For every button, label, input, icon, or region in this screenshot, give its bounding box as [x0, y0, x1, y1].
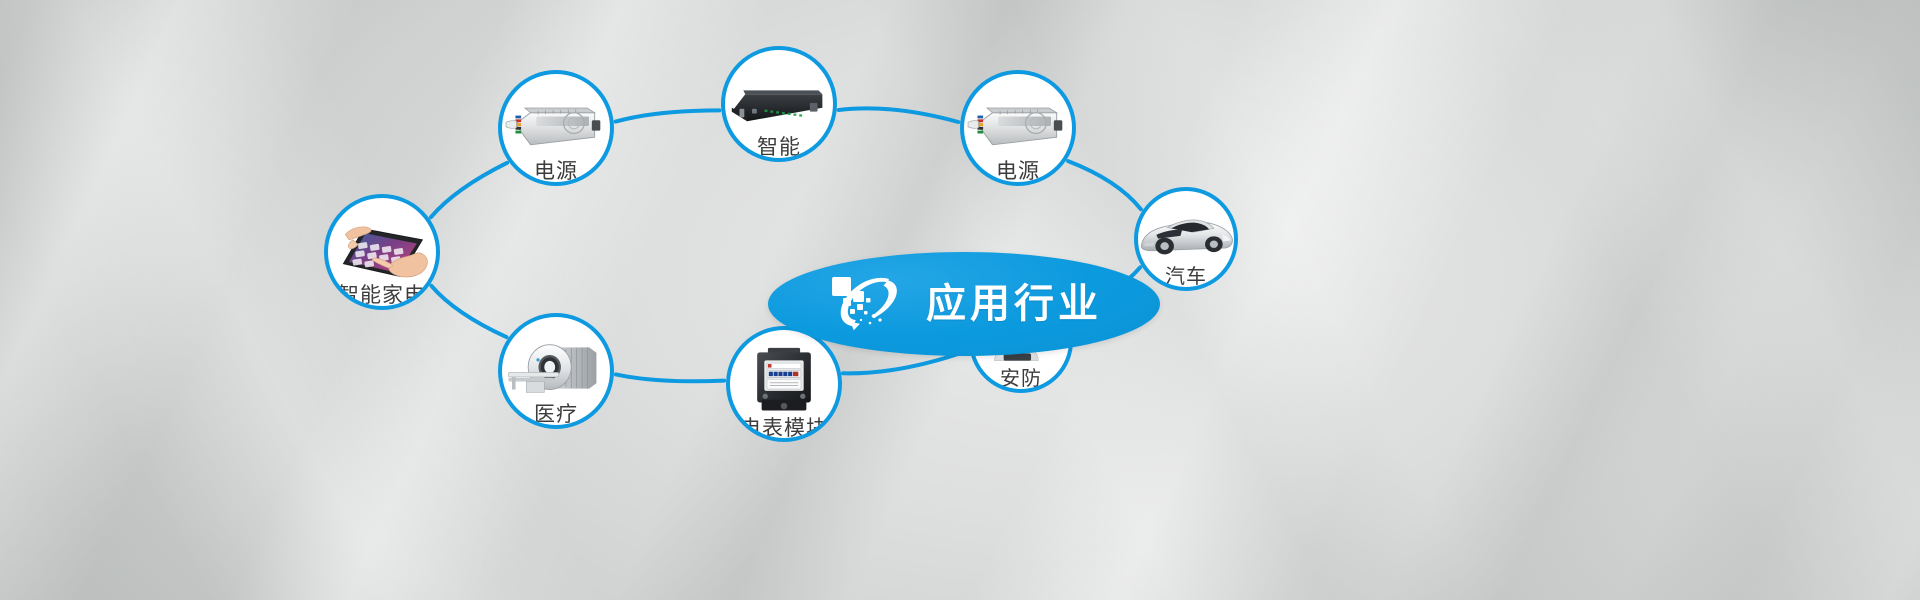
- connector-medical-appliance: [431, 163, 507, 217]
- connector-power-left-smart: [839, 108, 959, 122]
- node-label: 电源: [996, 161, 1040, 182]
- node-meter[interactable]: 电表模块: [726, 326, 842, 442]
- pc-power-supply-icon: [502, 90, 610, 159]
- pixel-orbit-logo-icon: [826, 271, 908, 337]
- connector-appliance-power-left: [616, 110, 720, 121]
- mri-scanner-icon: [502, 333, 610, 402]
- electric-meter-icon: [730, 346, 838, 416]
- node-label: 安防: [1000, 369, 1042, 389]
- infographic-canvas: 电源 智能: [0, 0, 1920, 600]
- node-medical[interactable]: 医疗: [498, 313, 614, 429]
- sports-car-icon: [1134, 203, 1238, 265]
- node-power-left[interactable]: 电源: [498, 70, 614, 186]
- center-label: 应用行业: [926, 284, 1102, 324]
- node-appliance[interactable]: 智能家电: [324, 194, 440, 310]
- node-smart[interactable]: 智能: [721, 46, 837, 162]
- node-label: 汽车: [1165, 267, 1207, 287]
- node-label: 电源: [534, 161, 578, 182]
- connector-smart-power-right: [1068, 161, 1141, 209]
- node-automotive[interactable]: 汽车: [1134, 187, 1238, 291]
- connector-meter-medical: [432, 286, 507, 337]
- pc-power-supply-icon: [964, 90, 1072, 159]
- node-power-right[interactable]: 电源: [960, 70, 1076, 186]
- center-badge[interactable]: 应用行业: [768, 252, 1160, 356]
- connector-security-meter: [616, 374, 724, 381]
- tablet-hand-icon: [328, 214, 436, 283]
- node-label: 智能: [757, 137, 801, 158]
- node-label: 医疗: [534, 404, 578, 425]
- rack-server-icon: [725, 66, 833, 135]
